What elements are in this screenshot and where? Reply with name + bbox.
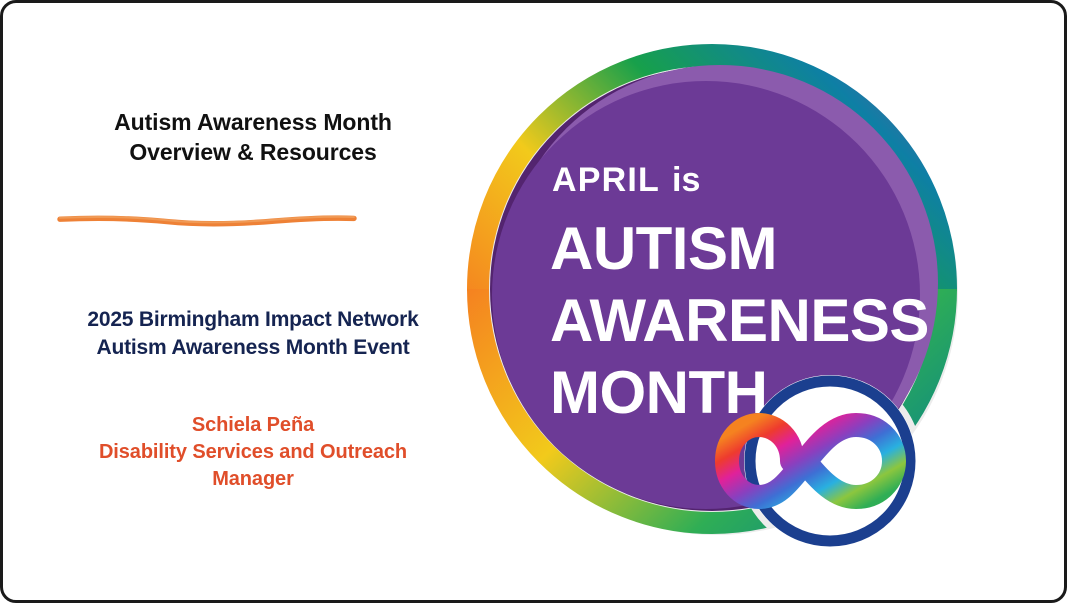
event-name: 2025 Birmingham Impact Network Autism Aw… xyxy=(43,306,463,362)
badge-line-1: AUTISM xyxy=(550,215,777,282)
badge-line-2: AWARENESS xyxy=(550,287,929,354)
badge-eyebrow: APRILis xyxy=(552,161,700,199)
badge-eyebrow-upper: APRIL xyxy=(552,161,660,199)
orange-squiggle-divider xyxy=(57,212,357,230)
presenter-name-and-title: Schiela Peña Disability Services and Out… xyxy=(43,412,463,494)
left-text-column: Autism Awareness Month Overview & Resour… xyxy=(43,107,463,493)
slide-canvas: Autism Awareness Month Overview & Resour… xyxy=(0,0,1067,603)
page-title: Autism Awareness Month Overview & Resour… xyxy=(43,107,463,168)
badge-line-3: MONTH xyxy=(550,359,767,426)
badge-eyebrow-lower: is xyxy=(672,161,700,199)
autism-awareness-month-badge: APRILis AUTISM AWARENESS MONTH xyxy=(458,31,978,576)
